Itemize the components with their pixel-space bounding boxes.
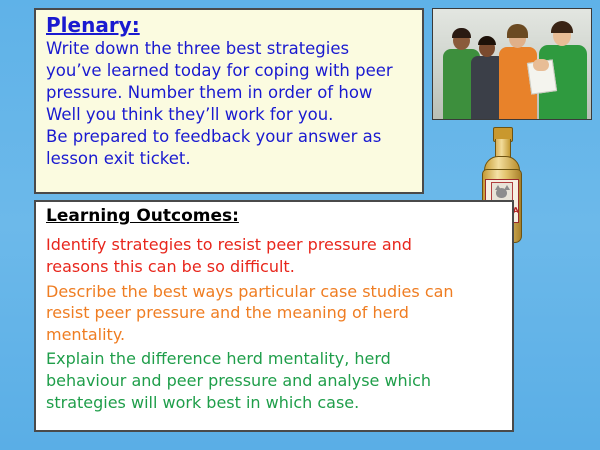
- outcome-line: Explain the difference herd mentality, h…: [46, 348, 504, 370]
- outcome-line: Describe the best ways particular case s…: [46, 281, 504, 303]
- outcome-line: behaviour and peer pressure and analyse …: [46, 370, 504, 392]
- person-four-arm: [533, 59, 549, 71]
- outcome-item-explain: Explain the difference herd mentality, h…: [46, 348, 504, 413]
- outcome-item-identify: Identify strategies to resist peer press…: [46, 234, 504, 277]
- plenary-line: you’ve learned today for coping with pee…: [46, 60, 414, 82]
- outcome-item-describe: Describe the best ways particular case s…: [46, 281, 504, 346]
- outcome-line: reasons this can be so difficult.: [46, 256, 504, 278]
- plenary-line: Write down the three best strategies: [46, 38, 414, 60]
- learning-outcomes-title: Learning Outcomes:: [46, 206, 504, 226]
- plenary-body: Write down the three best strategies you…: [46, 38, 414, 170]
- slide-canvas: Plenary: Write down the three best strat…: [0, 0, 600, 450]
- plenary-line: pressure. Number them in order of how: [46, 82, 414, 104]
- plenary-line: Well you think they’ll work for you.: [46, 104, 414, 126]
- plenary-title: Plenary:: [46, 14, 414, 37]
- plenary-box: Plenary: Write down the three best strat…: [34, 8, 424, 194]
- teenagers-peer-pressure-photo: [432, 8, 592, 120]
- outcome-line: resist peer pressure and the meaning of …: [46, 302, 504, 324]
- outcome-line: strategies will work best in which case.: [46, 392, 504, 414]
- plenary-line: Be prepared to feedback your answer as: [46, 126, 414, 148]
- outcome-line: mentality.: [46, 324, 504, 346]
- plenary-line: lesson exit ticket.: [46, 148, 414, 170]
- learning-outcomes-box: Learning Outcomes: Identify strategies t…: [34, 200, 514, 432]
- person-three-hair: [507, 24, 528, 38]
- person-one-hair: [452, 28, 471, 38]
- cat-head: [496, 188, 507, 198]
- outcome-line: Identify strategies to resist peer press…: [46, 234, 504, 256]
